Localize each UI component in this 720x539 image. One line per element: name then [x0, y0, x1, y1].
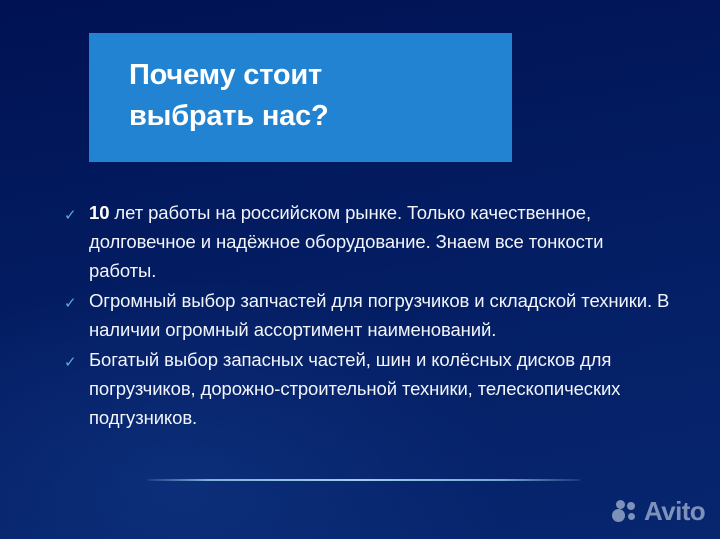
- avito-dots-icon: [612, 499, 639, 523]
- title-banner: Почему стоит выбрать нас?: [89, 33, 512, 162]
- benefits-list: ✓ 10 лет работы на российском рынке. Тол…: [64, 198, 672, 433]
- check-icon: ✓: [64, 345, 89, 377]
- page-title-line-2: выбрать нас?: [129, 96, 499, 137]
- list-item-body: Огромный выбор запчастей для погрузчиков…: [89, 290, 669, 340]
- page-title-line-1: Почему стоит: [129, 55, 499, 96]
- check-icon: ✓: [64, 198, 89, 230]
- page-title: Почему стоит выбрать нас?: [129, 55, 499, 137]
- avito-watermark: Avito: [612, 498, 705, 524]
- list-item-text: Огромный выбор запчастей для погрузчиков…: [89, 286, 672, 344]
- list-item: ✓ Богатый выбор запасных частей, шин и к…: [64, 345, 672, 432]
- list-item-body: Богатый выбор запасных частей, шин и кол…: [89, 349, 620, 428]
- list-item-lead: 10: [89, 202, 109, 223]
- list-item-text: 10 лет работы на российском рынке. Тольк…: [89, 198, 672, 285]
- list-item-text: Богатый выбор запасных частей, шин и кол…: [89, 345, 672, 432]
- list-item-body: лет работы на российском рынке. Только к…: [89, 202, 603, 281]
- avito-wordmark: Avito: [644, 498, 705, 524]
- check-icon: ✓: [64, 286, 89, 318]
- list-item: ✓ Огромный выбор запчастей для погрузчик…: [64, 286, 672, 344]
- divider: [148, 479, 580, 481]
- list-item: ✓ 10 лет работы на российском рынке. Тол…: [64, 198, 672, 285]
- slide-canvas: Почему стоит выбрать нас? ✓ 10 лет работ…: [0, 0, 720, 539]
